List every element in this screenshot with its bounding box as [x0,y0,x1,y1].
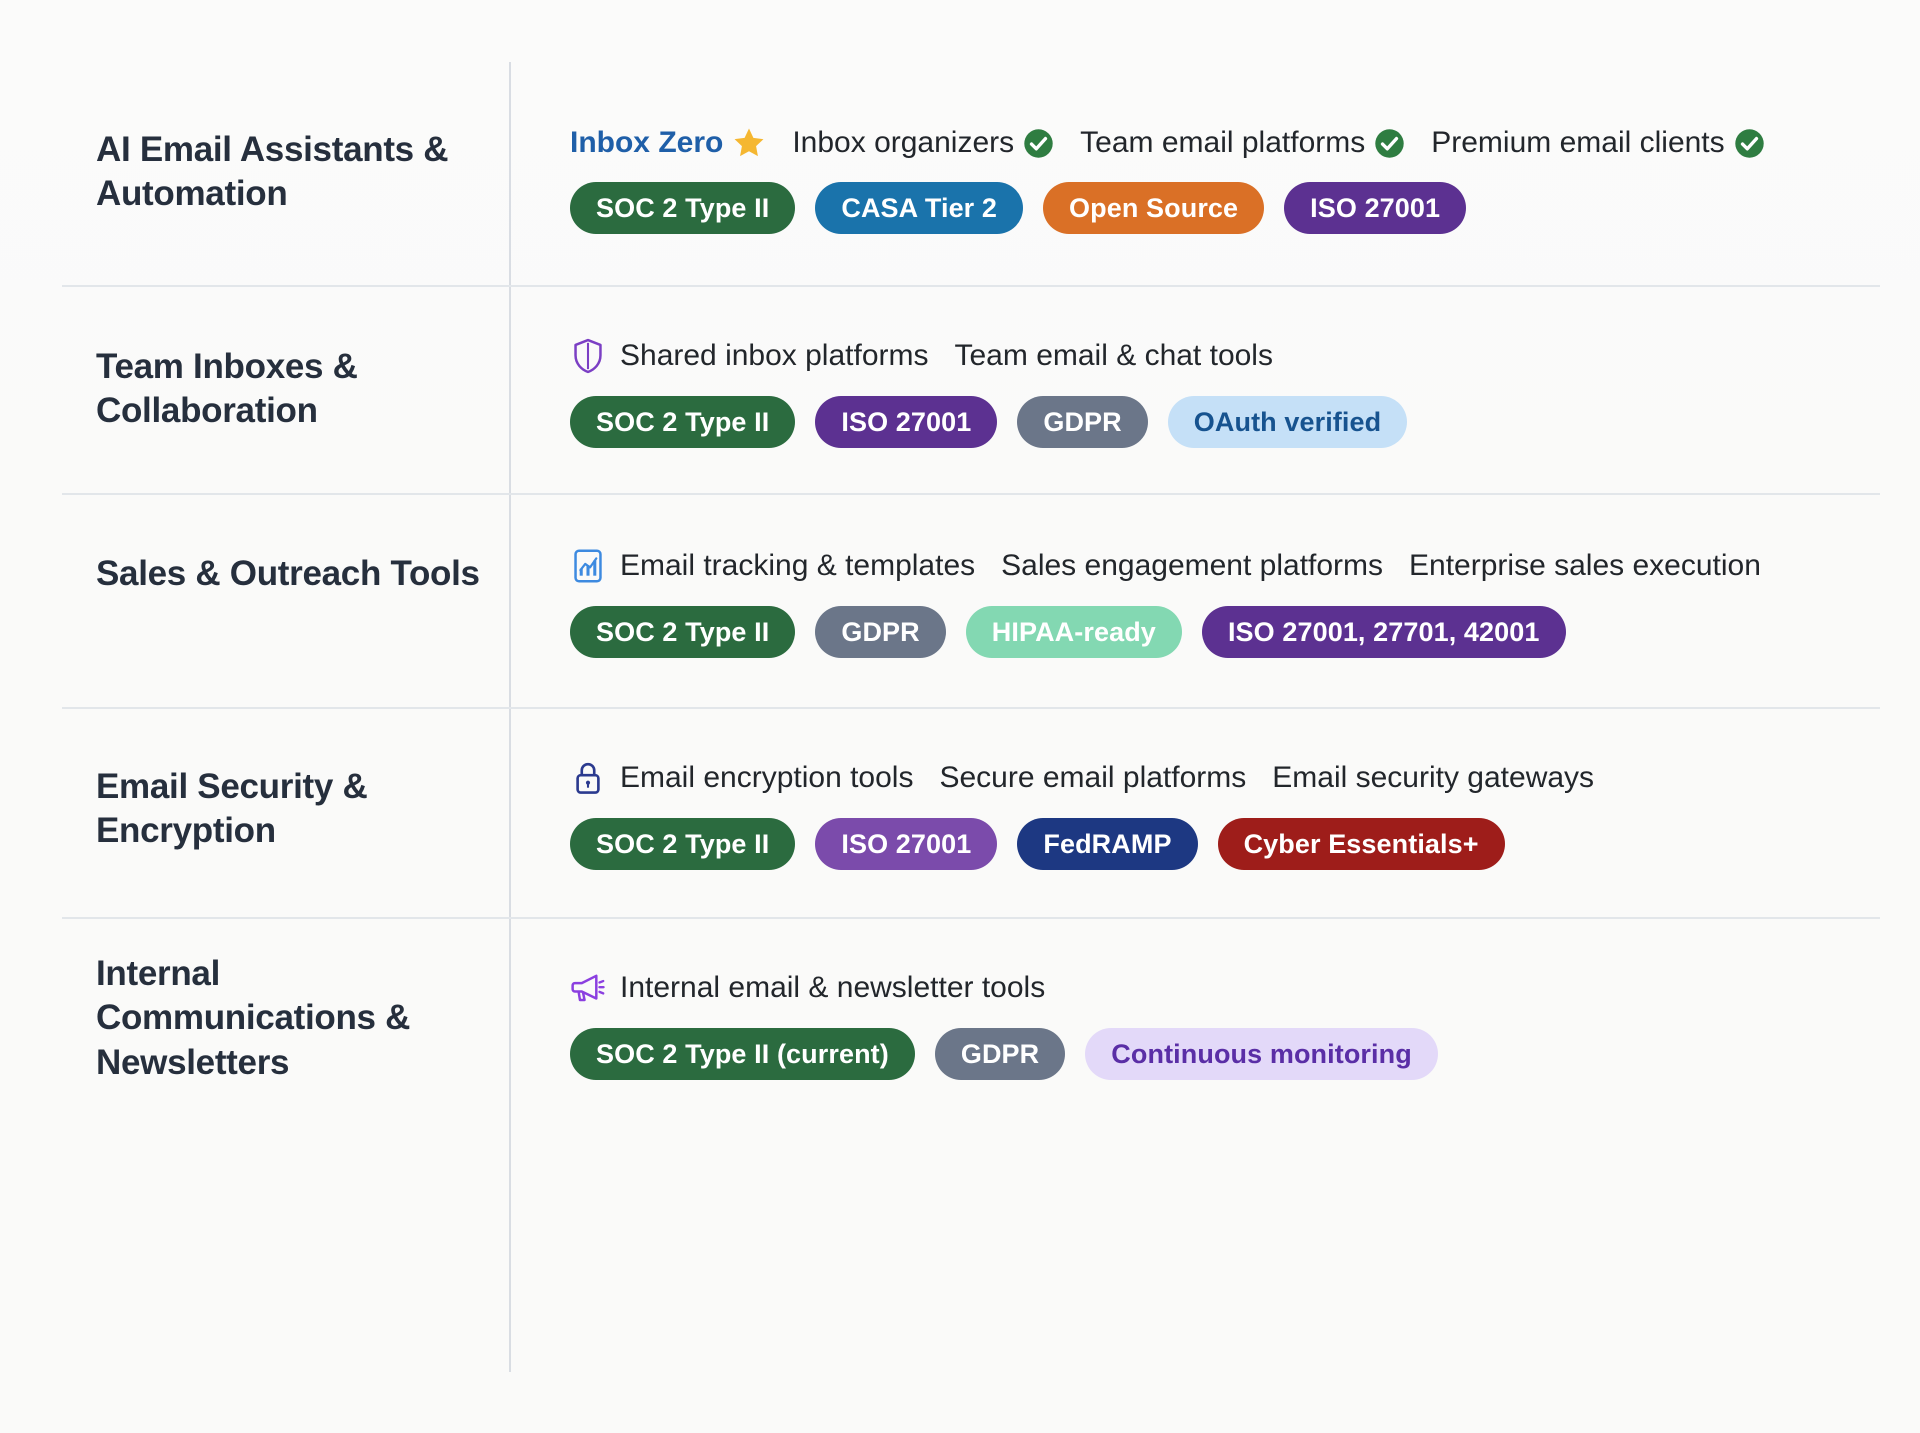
compliance-badge[interactable]: Continuous monitoring [1085,1028,1438,1080]
tool-label: Team email & chat tools [955,339,1273,373]
tool-item[interactable]: Sales engagement platforms [1001,549,1383,583]
compliance-badge[interactable]: SOC 2 Type II [570,818,795,870]
row-divider [62,917,1880,919]
tool-label: Enterprise sales execution [1409,549,1761,583]
compliance-badge[interactable]: GDPR [815,606,945,658]
tool-item[interactable]: Team email & chat tools [955,339,1273,373]
category-label: Email Security & Encryption [96,765,496,854]
chart-icon [570,548,606,584]
compliance-badge[interactable]: ISO 27001 [815,818,997,870]
badge-list: SOC 2 Type IIGDPRHIPAA-readyISO 27001, 2… [570,606,1910,658]
category-comparison-grid: AI Email Assistants & AutomationInbox Ze… [0,0,1920,1433]
tool-item[interactable]: Secure email platforms [939,761,1246,795]
lock-icon [570,760,606,796]
tool-list: Shared inbox platformsTeam email & chat … [570,338,1910,374]
tool-list: Inbox ZeroInbox organizersTeam email pla… [570,126,1910,160]
row-content: Internal email & newsletter toolsSOC 2 T… [570,970,1910,1080]
featured-tool-item[interactable]: Inbox Zero [570,126,766,160]
row-divider [62,285,1880,287]
compliance-badge[interactable]: SOC 2 Type II (current) [570,1028,915,1080]
tool-label: Email encryption tools [620,761,913,795]
tool-list: Internal email & newsletter tools [570,970,1910,1006]
badge-list: SOC 2 Type IIISO 27001GDPROAuth verified [570,396,1910,448]
tool-label: Premium email clients [1431,126,1724,160]
compliance-badge[interactable]: ISO 27001 [815,396,997,448]
compliance-badge[interactable]: GDPR [1017,396,1147,448]
row-content: Inbox ZeroInbox organizersTeam email pla… [570,126,1910,234]
check-circle-icon [1023,128,1054,159]
tool-list: Email tracking & templatesSales engageme… [570,548,1910,584]
category-label: Internal Communications & Newsletters [96,952,496,1085]
check-circle-icon [1734,128,1765,159]
compliance-badge[interactable]: GDPR [935,1028,1065,1080]
tool-label: Sales engagement platforms [1001,549,1383,583]
tool-item[interactable]: Team email platforms [1080,126,1405,160]
compliance-badge[interactable]: ISO 27001, 27701, 42001 [1202,606,1566,658]
compliance-badge[interactable]: HIPAA-ready [966,606,1182,658]
compliance-badge[interactable]: Cyber Essentials+ [1218,818,1505,870]
tool-item[interactable]: Enterprise sales execution [1409,549,1761,583]
compliance-badge[interactable]: OAuth verified [1168,396,1407,448]
tool-label: Internal email & newsletter tools [620,971,1045,1005]
compliance-badge[interactable]: SOC 2 Type II [570,182,795,234]
compliance-badge[interactable]: SOC 2 Type II [570,606,795,658]
vertical-divider [509,62,511,1372]
tool-label: Secure email platforms [939,761,1246,795]
row-divider [62,707,1880,709]
tool-item[interactable]: Internal email & newsletter tools [620,971,1045,1005]
badge-list: SOC 2 Type IICASA Tier 2Open SourceISO 2… [570,182,1910,234]
row-content: Email encryption toolsSecure email platf… [570,760,1910,870]
compliance-badge[interactable]: SOC 2 Type II [570,396,795,448]
row-divider [62,493,1880,495]
row-content: Shared inbox platformsTeam email & chat … [570,338,1910,448]
tool-label: Inbox organizers [792,126,1014,160]
compliance-badge[interactable]: Open Source [1043,182,1264,234]
tool-item[interactable]: Premium email clients [1431,126,1764,160]
category-label: AI Email Assistants & Automation [96,128,496,217]
tool-item[interactable]: Email security gateways [1272,761,1594,795]
tool-label: Shared inbox platforms [620,339,929,373]
tool-list: Email encryption toolsSecure email platf… [570,760,1910,796]
tool-label: Inbox Zero [570,126,723,160]
tool-item[interactable]: Email tracking & templates [620,549,975,583]
compliance-badge[interactable]: FedRAMP [1017,818,1197,870]
badge-list: SOC 2 Type IIISO 27001FedRAMPCyber Essen… [570,818,1910,870]
row-content: Email tracking & templatesSales engageme… [570,548,1910,658]
check-circle-icon [1374,128,1405,159]
tool-item[interactable]: Inbox organizers [792,126,1054,160]
tool-item[interactable]: Shared inbox platforms [620,339,929,373]
tool-item[interactable]: Email encryption tools [620,761,913,795]
tool-label: Team email platforms [1080,126,1365,160]
tool-label: Email security gateways [1272,761,1594,795]
megaphone-icon [570,970,606,1006]
badge-list: SOC 2 Type II (current)GDPRContinuous mo… [570,1028,1910,1080]
star-icon [732,126,766,160]
tool-label: Email tracking & templates [620,549,975,583]
category-label: Sales & Outreach Tools [96,552,496,596]
shield-icon [570,338,606,374]
compliance-badge[interactable]: CASA Tier 2 [815,182,1023,234]
category-label: Team Inboxes & Collaboration [96,345,496,434]
compliance-badge[interactable]: ISO 27001 [1284,182,1466,234]
